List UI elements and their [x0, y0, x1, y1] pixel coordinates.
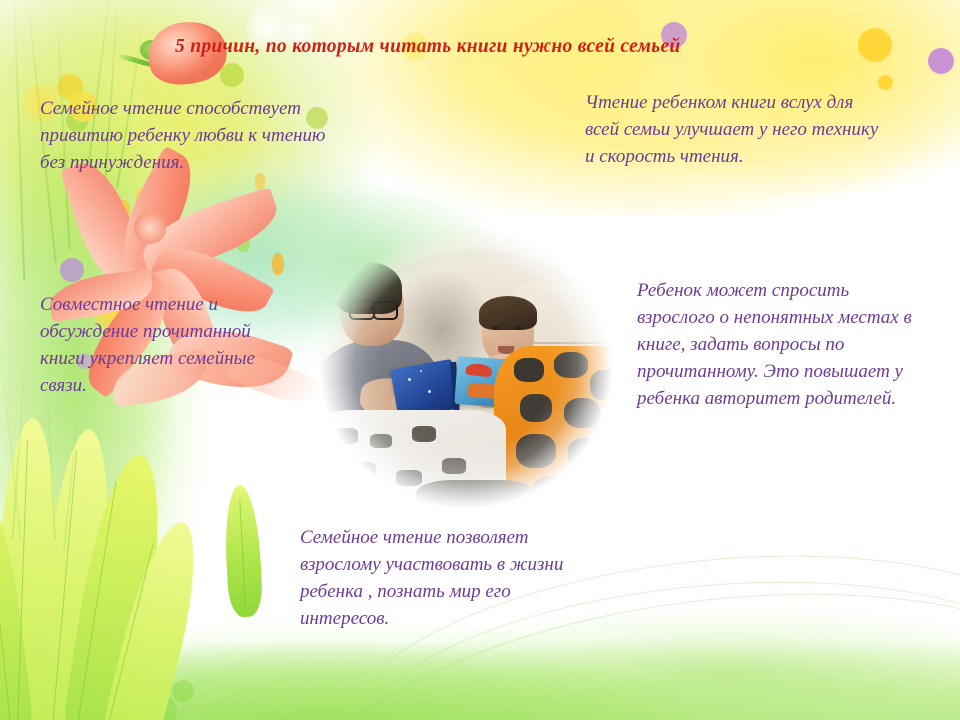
tulip-stem: [116, 53, 156, 69]
leaf-vein: [17, 440, 28, 720]
family-reading-photo: [316, 222, 616, 512]
leaf-vein: [107, 543, 154, 720]
leaf-vein: [52, 450, 77, 720]
leaf-cluster-bottom-left: [0, 400, 300, 720]
leaf-vein: [239, 499, 246, 607]
lily-center: [134, 212, 166, 244]
bokeh-dot-green-7: [172, 680, 194, 702]
floating-leaf: [223, 484, 264, 618]
bokeh-dot-orange-1: [118, 200, 130, 222]
reason-text-middle-left: Совместное чтение и обсуждение прочитанн…: [40, 292, 300, 400]
photo-oval-mask: [316, 222, 616, 512]
reason-text-middle-right: Ребенок может спросить взрослого о непон…: [637, 278, 927, 413]
bokeh-dot-purple-3: [60, 258, 84, 282]
slide-canvas: 5 причин, по которым читать книги нужно …: [0, 0, 960, 720]
leaf-blade: [0, 417, 63, 720]
leaf-blade: [32, 426, 120, 720]
bokeh-dot-green-1: [220, 63, 244, 87]
background-green-bottom-band: [0, 640, 960, 720]
grass-strand: [13, 0, 25, 280]
page-title: 5 причин, по которым читать книги нужно …: [175, 36, 915, 58]
leaf-vein: [0, 491, 12, 720]
reason-text-bottom-center: Семейное чтение позволяет взрослому учас…: [300, 525, 590, 633]
reason-text-top-left: Семейное чтение способствует привитию ре…: [40, 96, 340, 177]
reason-text-top-right: Чтение ребенком книги вслух для всей сем…: [585, 90, 885, 171]
bokeh-dot-orange-3: [272, 253, 284, 275]
photo-color-grade: [316, 222, 616, 512]
leaf-blade: [0, 460, 34, 720]
bokeh-dot-green-6: [103, 705, 129, 720]
leaf-blade: [103, 515, 211, 720]
bokeh-dot-purple-2: [928, 48, 954, 74]
leaf-vein: [76, 481, 116, 720]
tulip-calyx: [140, 40, 162, 60]
wisp-strand: [0, 320, 21, 539]
lily-petal: [135, 187, 286, 278]
bokeh-dot-orange-2: [135, 188, 145, 206]
bokeh-dot-green-5: [143, 694, 177, 720]
bokeh-dot-yellow-3: [878, 75, 893, 90]
leaf-blade: [62, 450, 175, 720]
bokeh-dot-green-4: [236, 238, 250, 252]
leaf-blade: [0, 399, 2, 720]
wisp-strand: [12, 300, 31, 540]
